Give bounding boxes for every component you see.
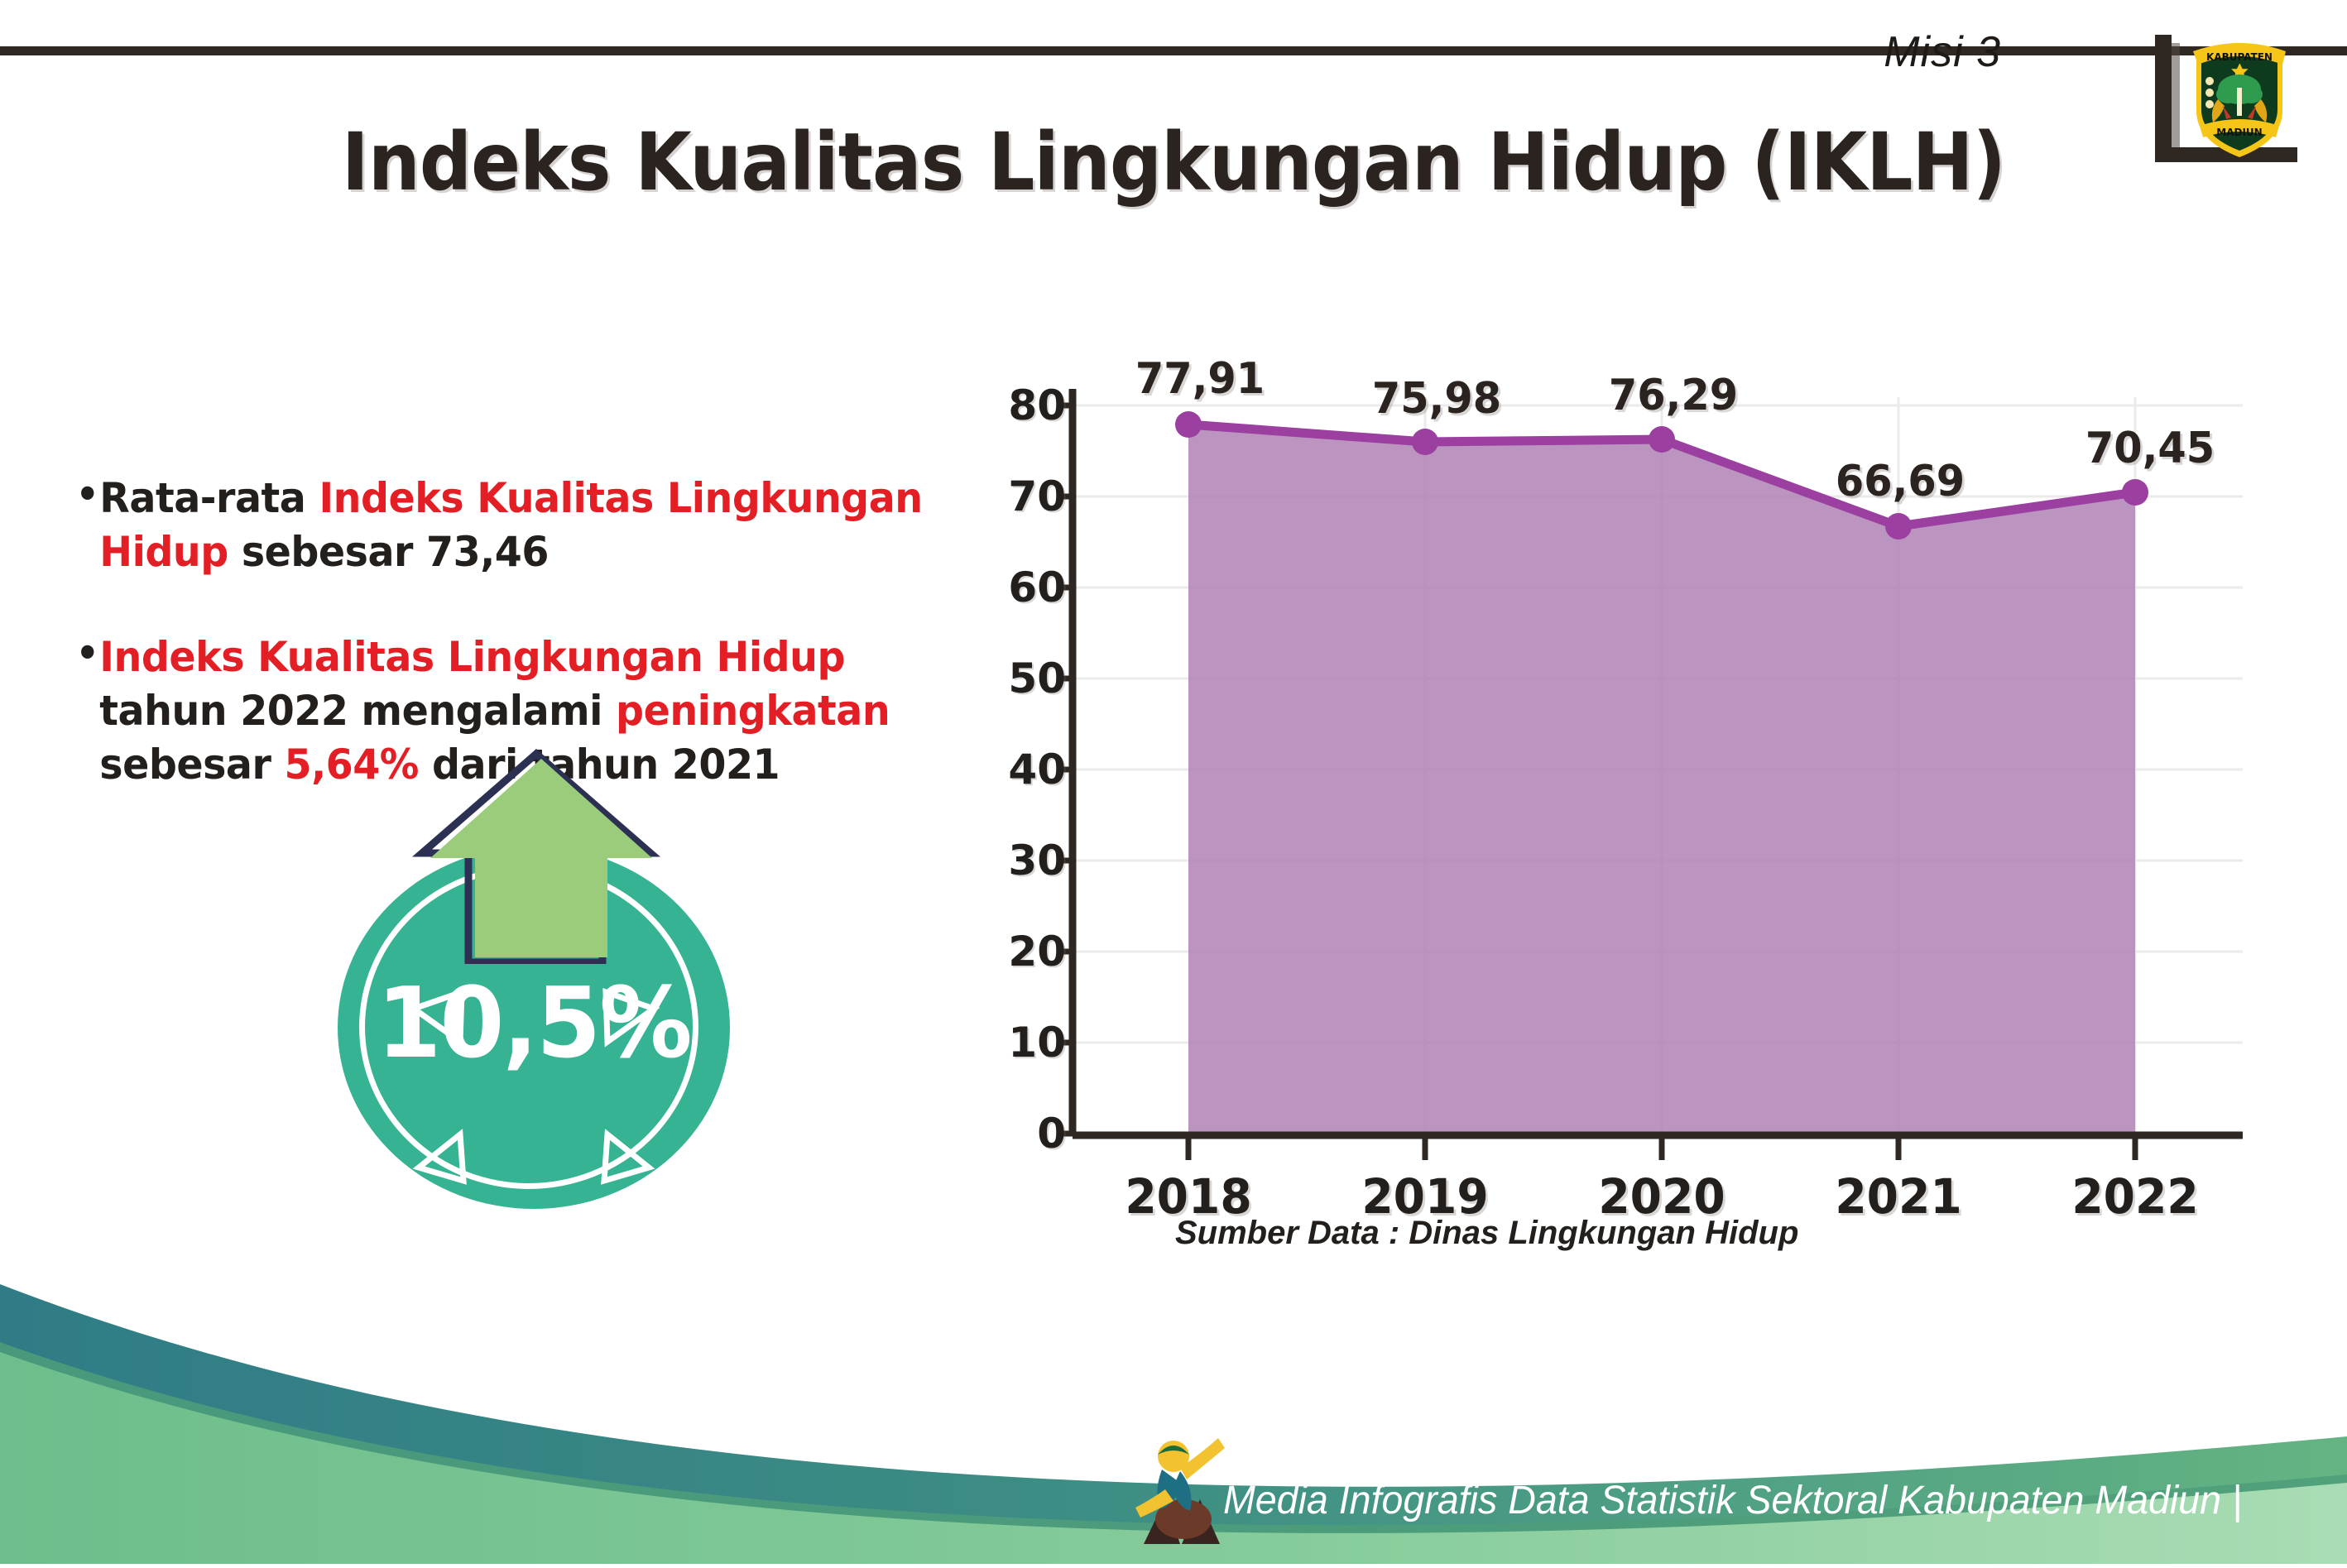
bullet-1-seg-3: sebesar 73,46 xyxy=(228,528,549,576)
y-tick-label: 70 xyxy=(967,472,1066,520)
bullet-item-average: Rata-rata Indeks Kualitas Lingkungan Hid… xyxy=(73,472,946,579)
bullet-list: Rata-rata Indeks Kualitas Lingkungan Hid… xyxy=(73,472,991,792)
badge-percentage-value: 10,5% xyxy=(348,966,720,1080)
bullet-2-seg-1: Indeks Kualitas Lingkungan Hidup xyxy=(99,633,845,681)
bullet-2-seg-2: tahun 2022 mengalami xyxy=(99,687,616,735)
y-tick-label: 10 xyxy=(967,1019,1066,1067)
svg-text:KABUPATEN: KABUPATEN xyxy=(2206,51,2273,63)
page-title: Indeks Kualitas Lingkungan Hidup (IKLH) xyxy=(94,116,2253,209)
y-tick-label: 80 xyxy=(967,381,1066,429)
y-tick-label: 30 xyxy=(967,837,1066,885)
x-tick-label: 2022 xyxy=(2041,1168,2229,1225)
y-tick-label: 60 xyxy=(967,563,1066,611)
x-tick-label: 2021 xyxy=(1804,1168,1993,1225)
bullet-1-seg-1: Rata-rata xyxy=(99,474,319,522)
iklh-area-chart: 80 70 60 50 40 30 20 10 0 2018 2019 2020… xyxy=(952,298,2276,1274)
data-point-label: 66,69 xyxy=(1810,457,1991,506)
increase-badge: 10,5% xyxy=(323,749,761,1212)
bullet-2-seg-3: peningkatan xyxy=(616,687,890,735)
media-infografis-logo-icon xyxy=(1132,1428,1230,1552)
data-point-label: 76,29 xyxy=(1583,371,1764,420)
bullet-2-seg-4: sebesar xyxy=(99,741,284,789)
misi-label: Misi 3 xyxy=(1884,27,2001,77)
slide-root: Misi 3 KABUPATEN MADIUN Indeks Kualitas … xyxy=(0,0,2347,1564)
y-tick-label: 20 xyxy=(967,928,1066,976)
footer-caption: Media Infografis Data Statistik Sektoral… xyxy=(1223,1478,2242,1523)
y-tick-label: 0 xyxy=(967,1110,1066,1158)
data-point-label: 75,98 xyxy=(1346,374,1528,424)
y-tick-label: 40 xyxy=(967,746,1066,794)
y-tick-label: 50 xyxy=(967,655,1066,702)
data-point-label: 77,91 xyxy=(1110,354,1291,404)
chart-area-fill xyxy=(1188,424,2135,1134)
data-point-label: 70,45 xyxy=(2060,424,2241,473)
source-note: Sumber Data : Dinas Lingkungan Hidup xyxy=(1175,1215,1798,1252)
